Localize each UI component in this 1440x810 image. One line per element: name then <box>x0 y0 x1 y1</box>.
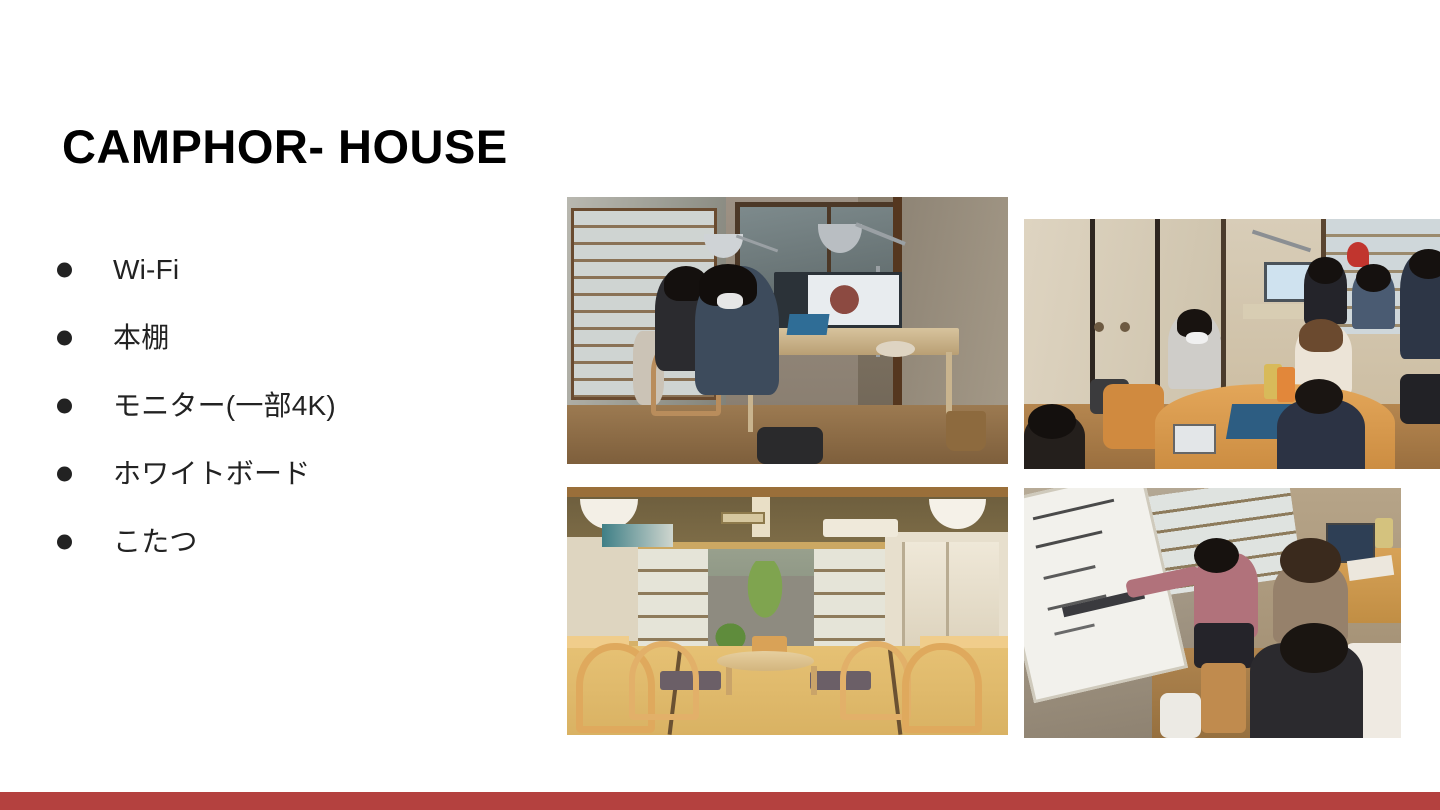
photo-grouptable-scene <box>1024 219 1440 469</box>
photo-grouptable <box>1024 219 1440 469</box>
photo-workdesk-scene <box>567 197 1008 464</box>
bullet-label-kotatsu: こたつ <box>113 525 198 559</box>
bullet-dot-icon <box>57 399 72 414</box>
list-item: こたつ <box>50 508 480 576</box>
slide: CAMPHOR- HOUSE Wi-Fi 本棚 モニター(一部4K) ホワイトボ… <box>0 0 1440 810</box>
photo-tatamiroom <box>567 487 1008 735</box>
feature-bullet-list: Wi-Fi 本棚 モニター(一部4K) ホワイトボード こたつ <box>50 236 480 576</box>
bottom-accent-bar <box>0 792 1440 810</box>
bullet-label-bookshelf: 本棚 <box>113 321 169 355</box>
page-title: CAMPHOR- HOUSE <box>62 117 508 177</box>
bullet-dot-icon <box>57 535 72 550</box>
photo-workdesk <box>567 197 1008 464</box>
photo-whiteboard-scene <box>1024 488 1401 738</box>
bullet-label-monitor: モニター(一部4K) <box>113 389 336 423</box>
list-item: Wi-Fi <box>50 236 480 304</box>
list-item: モニター(一部4K) <box>50 372 480 440</box>
bullet-dot-icon <box>57 331 72 346</box>
bullet-label-whiteboard: ホワイトボード <box>113 457 310 491</box>
bullet-dot-icon <box>57 263 72 278</box>
bullet-dot-icon <box>57 467 72 482</box>
photo-whiteboard <box>1024 488 1401 738</box>
list-item: ホワイトボード <box>50 440 480 508</box>
list-item: 本棚 <box>50 304 480 372</box>
photo-tatamiroom-scene <box>567 487 1008 735</box>
bullet-label-wifi: Wi-Fi <box>113 253 179 287</box>
